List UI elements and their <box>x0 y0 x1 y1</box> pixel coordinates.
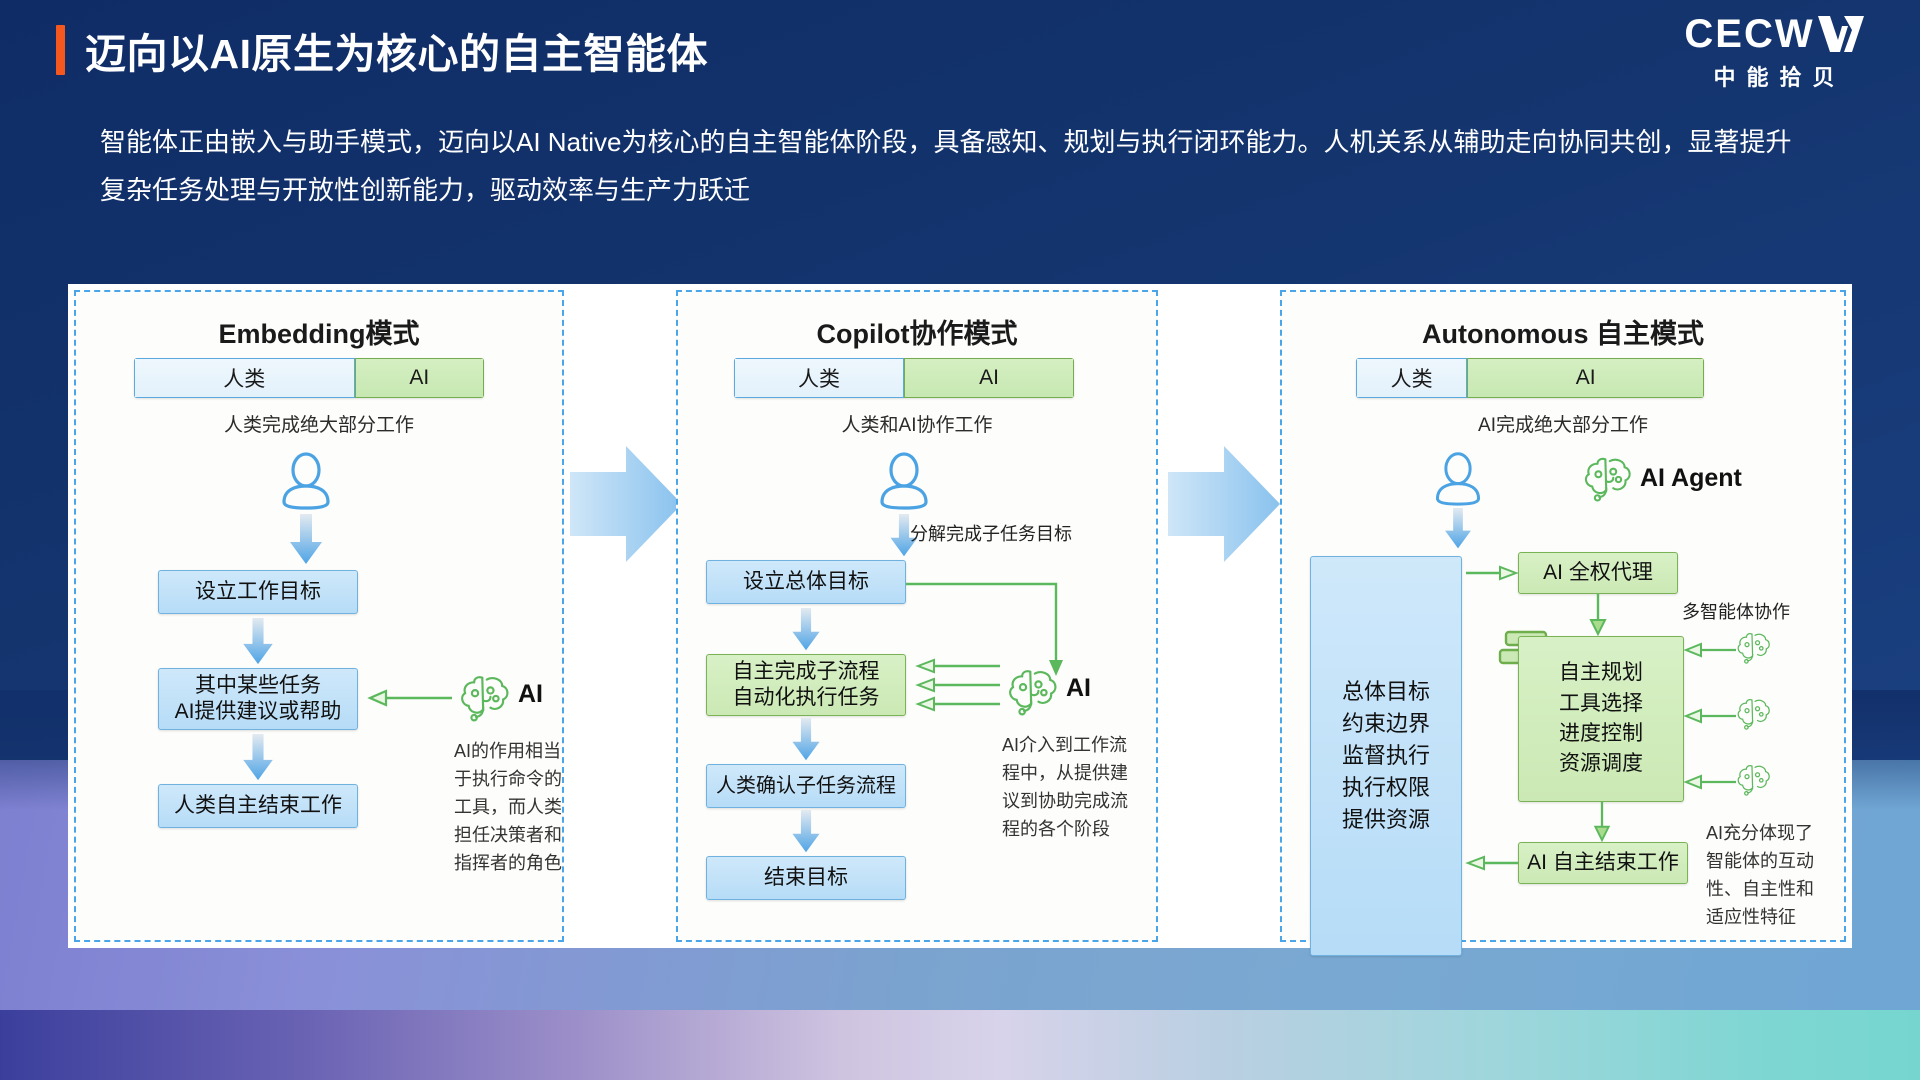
panel-3-human-scope-label: 总体目标 约束边界 监督执行 执行权限 提供资源 <box>1342 676 1430 835</box>
panel-2-title: Copilot协作模式 <box>678 312 1156 351</box>
panel-3-collab-label: 多智能体协作 <box>1682 598 1790 624</box>
panel-2-step-2-label: 自主完成子流程 自动化执行任务 <box>733 659 880 712</box>
panel-3-caption: AI完成绝大部分工作 <box>1282 410 1844 437</box>
panel-2-caption: 人类和AI协作工作 <box>678 410 1156 437</box>
flow-arrow-down-green <box>1592 802 1612 842</box>
panel-2-step-3-label: 人类确认子任务流程 <box>716 774 896 799</box>
panel-2-ratio-bar: 人类 AI <box>734 358 1074 398</box>
background-bottom-strip <box>0 1010 1920 1080</box>
stage-arrow-2 <box>1158 444 1288 564</box>
panel-1-step-3-label: 人类自主结束工作 <box>174 793 342 819</box>
flow-arrow-down <box>788 718 824 762</box>
panel-3-step-1: AI 全权代理 <box>1518 552 1678 594</box>
brain-icon <box>1580 448 1636 504</box>
panel-1-ai-label: AI <box>518 680 543 709</box>
delegate-arrow <box>1466 564 1518 582</box>
panel-1-step-1-label: 设立工作目标 <box>195 579 321 605</box>
panel-3-human-segment: 人类 <box>1356 358 1467 398</box>
panel-2-ai-segment: AI <box>904 358 1074 398</box>
logo-cn-text: 中能拾贝 <box>1674 60 1874 92</box>
logo-mark: CECW <box>1674 14 1874 54</box>
return-arrow <box>1466 854 1518 872</box>
panel-2-step-3: 人类确认子任务流程 <box>706 764 906 808</box>
panel-3-ratio-bar: 人类 AI <box>1356 358 1704 398</box>
page-title: 迈向以AI原生为核心的自主智能体 <box>85 20 708 80</box>
panel-1-title: Embedding模式 <box>76 312 562 351</box>
panel-2-step-1: 设立总体目标 <box>706 560 906 604</box>
panel-1-ratio-bar: 人类 AI <box>134 358 484 398</box>
panel-embedding: Embedding模式 人类 AI 人类完成绝大部分工作 设立工作目标 其中某些 <box>74 290 564 942</box>
panel-3-step-1-label: AI 全权代理 <box>1543 560 1653 586</box>
ai-feedback-arrows <box>916 658 1002 716</box>
stage-arrow-1 <box>560 444 690 564</box>
person-icon <box>276 450 336 510</box>
panel-1-step-3: 人类自主结束工作 <box>158 784 358 828</box>
multi-agent-brains <box>1684 624 1794 810</box>
subtitle: 智能体正由嵌入与助手模式，迈向以AI Native为核心的自主智能体阶段，具备感… <box>100 118 1800 214</box>
panel-1-note: AI的作用相当于执行命令的工具，而人类担任决策者和指挥者的角色 <box>454 738 574 877</box>
panel-3-step-3: AI 自主结束工作 <box>1518 842 1688 884</box>
panel-3-human-scope: 总体目标 约束边界 监督执行 执行权限 提供资源 <box>1310 556 1462 956</box>
logo-text: CECW <box>1684 14 1814 54</box>
logo: CECW 中能拾贝 <box>1674 14 1874 92</box>
panel-2-branch-label: 分解完成子任务目标 <box>910 520 1072 546</box>
panel-3-step-2-label: 自主规划 工具选择 进度控制 资源调度 <box>1559 658 1643 780</box>
flow-arrow-down <box>240 618 276 666</box>
flow-arrow-down <box>788 810 824 854</box>
panel-1-step-2-label: 其中某些任务 AI提供建议或帮助 <box>175 673 342 726</box>
panel-2-human-segment: 人类 <box>734 358 904 398</box>
panel-2-ai-label: AI <box>1066 674 1091 703</box>
logo-w-icon <box>1818 14 1864 54</box>
person-icon <box>874 450 934 510</box>
ai-feed-arrow <box>368 688 454 708</box>
flow-arrow-down <box>788 608 824 652</box>
content-card: Embedding模式 人类 AI 人类完成绝大部分工作 设立工作目标 其中某些 <box>68 284 1852 948</box>
panel-1-caption: 人类完成绝大部分工作 <box>76 410 562 437</box>
panel-2-step-4: 结束目标 <box>706 856 906 900</box>
flow-arrow-down <box>1442 508 1474 550</box>
panel-3-ai-segment: AI <box>1467 358 1704 398</box>
panel-3-agent-label: AI Agent <box>1640 464 1742 493</box>
title-row: 迈向以AI原生为核心的自主智能体 <box>56 20 708 80</box>
flow-arrow-down-green <box>1588 594 1608 636</box>
panel-1-ai-segment: AI <box>355 358 485 398</box>
panel-1-step-1: 设立工作目标 <box>158 570 358 614</box>
panel-1-human-segment: 人类 <box>134 358 355 398</box>
panel-2-step-4-label: 结束目标 <box>764 865 848 891</box>
panel-3-title: Autonomous 自主模式 <box>1282 312 1844 351</box>
panel-3-step-3-label: AI 自主结束工作 <box>1527 850 1679 876</box>
brain-icon <box>456 666 514 724</box>
panel-1-step-2: 其中某些任务 AI提供建议或帮助 <box>158 668 358 730</box>
title-accent-bar <box>56 25 65 75</box>
flow-arrow-down <box>240 734 276 782</box>
panel-2-step-1-label: 设立总体目标 <box>743 569 869 595</box>
panel-3-note: AI充分体现了智能体的互动性、自主性和适应性特征 <box>1706 820 1826 932</box>
flow-arrow-down <box>288 514 324 566</box>
panel-autonomous: Autonomous 自主模式 人类 AI AI完成绝大部分工作 <box>1280 290 1846 942</box>
panel-2-note: AI介入到工作流程中，从提供建议到协助完成流程的各个阶段 <box>1002 732 1130 844</box>
panel-copilot: Copilot协作模式 人类 AI 人类和AI协作工作 设立总体目标 分解完成子… <box>676 290 1158 942</box>
person-icon <box>1430 450 1486 506</box>
panel-2-step-2: 自主完成子流程 自动化执行任务 <box>706 654 906 716</box>
brain-icon <box>1004 660 1062 718</box>
panel-3-step-2: 自主规划 工具选择 进度控制 资源调度 <box>1518 636 1684 802</box>
